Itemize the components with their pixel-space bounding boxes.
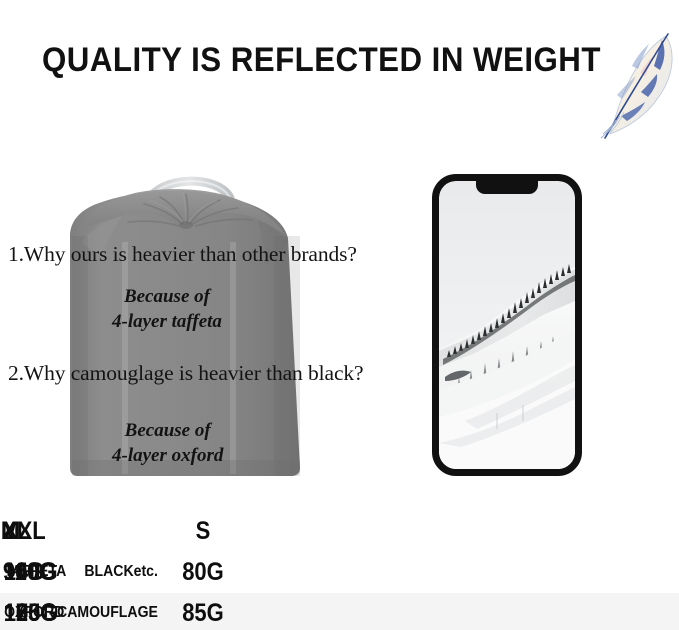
material-label-taffeta: TAFFETA	[4, 552, 66, 592]
faq-answer-2-line-2: 4-layer oxford	[112, 443, 223, 468]
size-header-s: S	[176, 511, 231, 551]
weight-black-s: 80G	[176, 552, 231, 592]
phone-notch	[476, 181, 538, 194]
faq-answer-1: Because of 4-layer taffeta	[112, 284, 222, 334]
row-label-camouflage-text: CAMOUFLAGE	[57, 604, 158, 621]
faq-question-2: 2.Why camouglage is heavier than black?	[8, 361, 363, 386]
material-label-oxford: OXFORD	[4, 593, 64, 630]
header-banner: QUALITY IS REFLECTED IN WEIGHT	[0, 38, 679, 100]
faq-answer-2-line-1: Because of	[112, 418, 223, 443]
row-label-black-suffix: etc.	[134, 563, 158, 580]
infographic-page: QUALITY IS REFLECTED IN WEIGHT	[0, 0, 679, 630]
faq-answer-2: Because of 4-layer oxford	[112, 418, 223, 468]
page-title: QUALITY IS REFLECTED IN WEIGHT	[42, 40, 566, 80]
table-header-row: S M L XL XXL	[0, 511, 679, 551]
table-row: BLACKetc. 80G 90G 110G 140G 160G TAFFETA	[0, 552, 679, 592]
phone-wallpaper-image	[439, 181, 575, 469]
size-header-xxl: XXL	[3, 511, 46, 551]
weight-camo-s: 85G	[176, 593, 231, 630]
faq-answer-1-line-1: Because of	[112, 284, 222, 309]
smartphone-mockup	[432, 174, 582, 476]
faq-question-1: 1.Why ours is heavier than other brands?	[8, 242, 357, 267]
feather-icon	[596, 30, 679, 142]
row-label-black-text: BLACK	[84, 563, 133, 580]
table-row: CAMOUFLAGE 85G 100G 125G 165G 175G OXFOR…	[0, 593, 679, 630]
weight-size-table: S M L XL XXL BLACKetc. 80G 90G 110G 140G…	[0, 505, 679, 630]
phone-screen	[439, 181, 575, 469]
faq-answer-1-line-2: 4-layer taffeta	[112, 309, 222, 334]
